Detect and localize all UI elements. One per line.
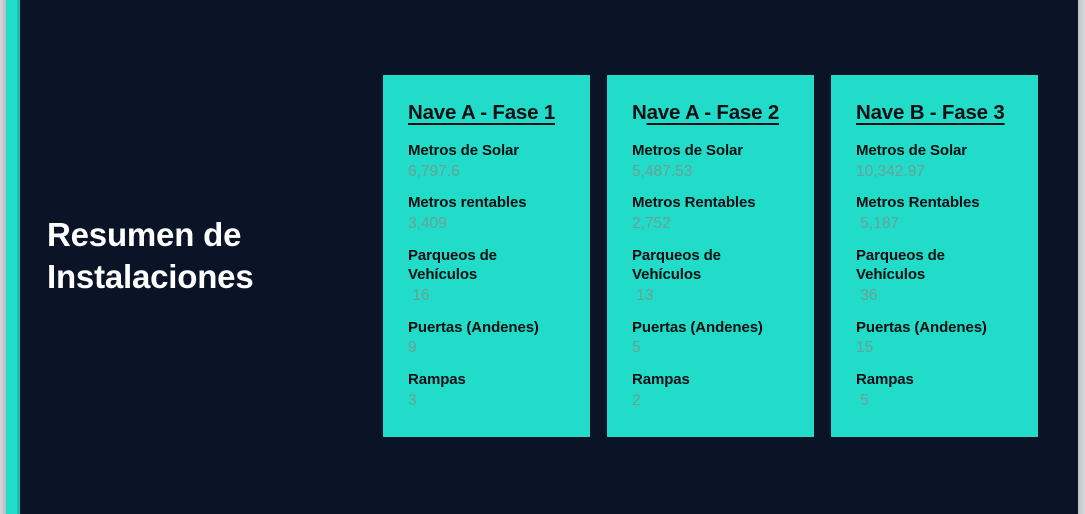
- stat-label: Parqueos de Vehículos: [408, 246, 590, 285]
- stat-label: Puertas (Andenes): [408, 318, 590, 338]
- card-title-prefix: N: [632, 101, 647, 124]
- page-title-line-1: Resumen de: [47, 214, 357, 256]
- stat-value: 5: [856, 391, 1038, 412]
- stat-item: Metros rentables 3,409: [408, 193, 590, 234]
- stat-label: Metros rentables: [408, 193, 590, 213]
- stat-value: 6,797.6: [408, 162, 590, 183]
- stat-value: 3: [408, 391, 590, 412]
- card-title: Nave A - Fase 1: [408, 101, 590, 125]
- stat-value: 5,487.53: [632, 162, 814, 183]
- stat-value: 16: [408, 286, 590, 307]
- stat-value: 2: [632, 391, 814, 412]
- stat-item: Parqueos de Vehículos 16: [408, 246, 590, 307]
- stat-value: 36: [856, 286, 1038, 307]
- stat-label: Puertas (Andenes): [856, 318, 1038, 338]
- stat-label: Parqueos de Vehículos: [632, 246, 814, 285]
- stat-item: Puertas (Andenes) 5: [632, 318, 814, 359]
- stat-item: Parqueos de Vehículos 13: [632, 246, 814, 307]
- right-edge-gray-strip: [1078, 0, 1085, 514]
- stat-label: Metros Rentables: [856, 193, 1038, 213]
- stat-label: Metros Rentables: [632, 193, 814, 213]
- stat-value: 9: [408, 338, 590, 359]
- card-title: Nave B - Fase 3: [856, 101, 1038, 125]
- stat-label: Rampas: [632, 370, 814, 390]
- stat-label: Metros de Solar: [632, 141, 814, 161]
- stat-value: 2,752: [632, 214, 814, 235]
- stat-label: Parqueos de Vehículos: [856, 246, 1038, 285]
- stat-value: 5: [632, 338, 814, 359]
- stat-value: 3,409: [408, 214, 590, 235]
- page-title: Resumen de Instalaciones: [47, 214, 357, 298]
- page-title-line-2: Instalaciones: [47, 256, 357, 298]
- stat-value: 13: [632, 286, 814, 307]
- stat-label: Rampas: [856, 370, 1038, 390]
- facility-card: Nave B - Fase 3 Metros de Solar 10,342.9…: [831, 75, 1038, 437]
- card-title-underlined: Nave A - Fase 1: [408, 101, 555, 124]
- card-title-underlined: Nave B - Fase 3: [856, 101, 1005, 124]
- facility-card: Nave A - Fase 1 Metros de Solar 6,797.6 …: [383, 75, 590, 437]
- stat-item: Metros Rentables 5,187: [856, 193, 1038, 234]
- stat-label: Metros de Solar: [856, 141, 1038, 161]
- stat-item: Rampas 5: [856, 370, 1038, 411]
- stat-item: Metros de Solar 10,342.97: [856, 141, 1038, 182]
- slide-canvas: Resumen de Instalaciones Nave A - Fase 1…: [0, 0, 1085, 514]
- stat-item: Puertas (Andenes) 9: [408, 318, 590, 359]
- stat-item: Parqueos de Vehículos 36: [856, 246, 1038, 307]
- card-title: Nave A - Fase 2: [632, 101, 814, 125]
- stat-item: Metros de Solar 6,797.6: [408, 141, 590, 182]
- facility-cards-row: Nave A - Fase 1 Metros de Solar 6,797.6 …: [383, 75, 1038, 437]
- stat-value: 10,342.97: [856, 162, 1038, 183]
- stat-label: Rampas: [408, 370, 590, 390]
- stat-item: Rampas 3: [408, 370, 590, 411]
- left-accent-bar: [6, 0, 17, 514]
- card-title-underlined: ave A - Fase 2: [647, 101, 779, 124]
- stat-label: Puertas (Andenes): [632, 318, 814, 338]
- stat-item: Rampas 2: [632, 370, 814, 411]
- stat-value: 5,187: [856, 214, 1038, 235]
- stat-label: Metros de Solar: [408, 141, 590, 161]
- facility-card: Nave A - Fase 2 Metros de Solar 5,487.53…: [607, 75, 814, 437]
- stat-item: Metros Rentables 2,752: [632, 193, 814, 234]
- stat-item: Puertas (Andenes) 15: [856, 318, 1038, 359]
- stat-item: Metros de Solar 5,487.53: [632, 141, 814, 182]
- stat-value: 15: [856, 338, 1038, 359]
